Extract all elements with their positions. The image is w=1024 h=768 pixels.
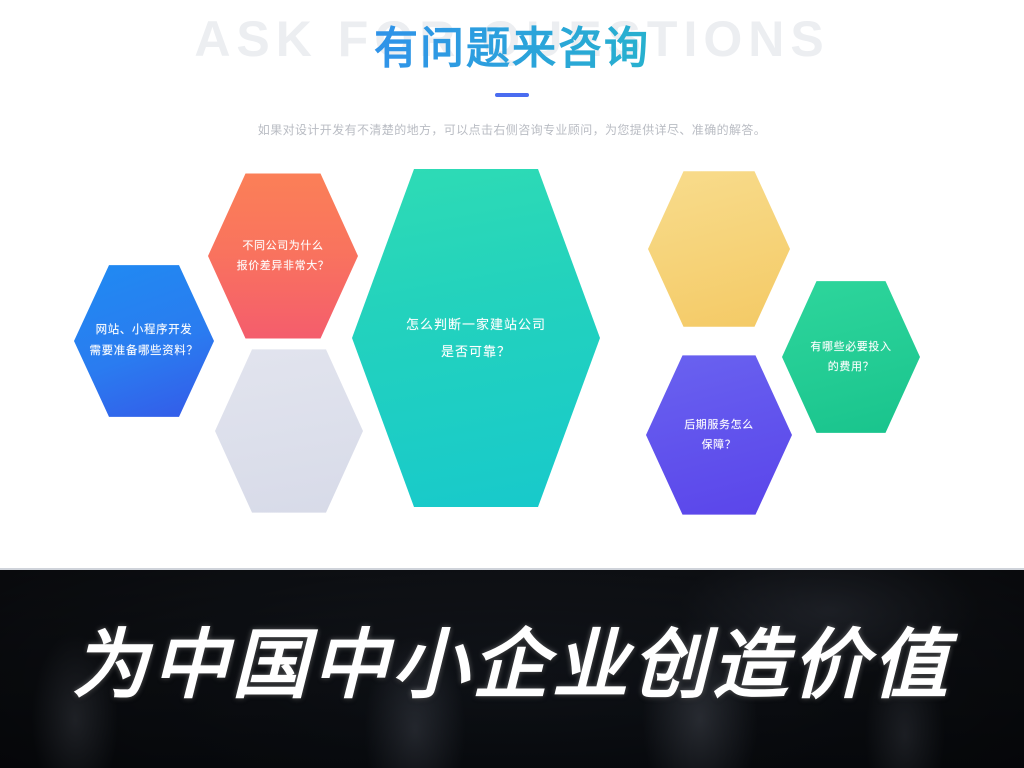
faq-hexagon-purple-line1: 后期服务怎么 <box>684 415 754 435</box>
bottom-banner: 为中国中小企业创造价值 <box>0 568 1024 768</box>
section-header: ASK FOR QUESTIONS 有问题来咨询 如果对设计开发有不清楚的地方，… <box>0 0 1024 150</box>
faq-hexagon-blue-line1: 网站、小程序开发 <box>90 320 199 341</box>
faq-hexagon-yellow-empty[interactable] <box>648 168 790 330</box>
faq-hexagon-purple[interactable]: 后期服务怎么 保障？ <box>646 352 792 518</box>
faq-hexagon-orange-line2: 报价差异非常大？ <box>237 256 330 276</box>
faq-hexagon-blue[interactable]: 网站、小程序开发 需要准备哪些资料？ <box>74 262 214 420</box>
faq-hexagon-cyan[interactable]: 怎么判断一家建站公司 是否可靠？ <box>352 162 600 514</box>
faq-hexagon-gray-empty[interactable] <box>215 346 363 516</box>
banner-slogan: 为中国中小企业创造价值 <box>0 628 1024 704</box>
title-divider <box>495 93 529 97</box>
section-subtitle: 如果对设计开发有不清楚的地方，可以点击右侧咨询专业顾问，为您提供详尽、准确的解答… <box>0 121 1024 138</box>
faq-hexagon-orange-line1: 不同公司为什么 <box>237 236 330 256</box>
faq-hexagon-orange-label: 不同公司为什么 报价差异非常大？ <box>229 236 338 277</box>
faq-hexagon-purple-line2: 保障？ <box>684 435 754 455</box>
faq-hexagon-blue-line2: 需要准备哪些资料？ <box>90 341 199 362</box>
faq-hexagon-cyan-label: 怎么判断一家建站公司 是否可靠？ <box>398 311 554 366</box>
faq-hexagon-green-label: 有哪些必要投入 的费用？ <box>802 337 899 378</box>
faq-hexagon-green-line2: 的费用？ <box>810 357 891 377</box>
faq-hexagon-blue-label: 网站、小程序开发 需要准备哪些资料？ <box>82 320 207 363</box>
faq-hexagon-cyan-line1: 怎么判断一家建站公司 <box>406 311 546 338</box>
page-title: 有问题来咨询 <box>0 24 1024 75</box>
faq-hexagon-cyan-line2: 是否可靠？ <box>406 338 546 365</box>
faq-hexagon-orange[interactable]: 不同公司为什么 报价差异非常大？ <box>208 170 358 342</box>
faq-hexagon-green-line1: 有哪些必要投入 <box>810 337 891 357</box>
faq-hexagon-purple-label: 后期服务怎么 保障？ <box>676 415 762 456</box>
hexagon-cluster: 网站、小程序开发 需要准备哪些资料？ 不同公司为什么 报价差异非常大？ 怎么判断… <box>0 150 1024 568</box>
faq-section: ASK FOR QUESTIONS 有问题来咨询 如果对设计开发有不清楚的地方，… <box>0 0 1024 568</box>
faq-hexagon-green[interactable]: 有哪些必要投入 的费用？ <box>782 278 920 436</box>
